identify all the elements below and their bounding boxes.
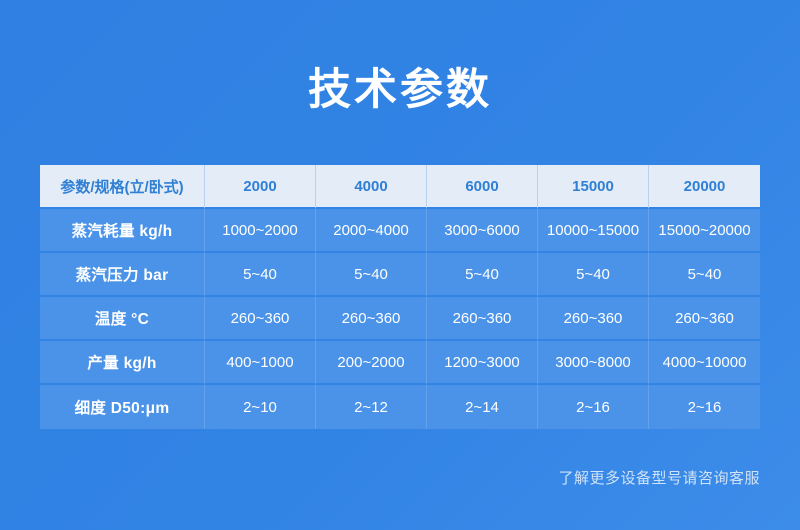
table-cell: 5~40 xyxy=(649,253,760,297)
table-cell: 260~360 xyxy=(427,297,538,341)
column-header-4000: 4000 xyxy=(316,165,427,209)
column-header-spec: 参数/规格(立/卧式) xyxy=(40,165,205,209)
table-header-row: 参数/规格(立/卧式) 2000 4000 6000 15000 20000 xyxy=(40,165,760,209)
row-label-steam-consumption: 蒸汽耗量 kg/h xyxy=(40,209,205,253)
table-cell: 1000~2000 xyxy=(205,209,316,253)
row-label-steam-pressure: 蒸汽压力 bar xyxy=(40,253,205,297)
column-header-2000: 2000 xyxy=(205,165,316,209)
table-row: 蒸汽压力 bar 5~40 5~40 5~40 5~40 5~40 xyxy=(40,253,760,297)
row-label-fineness: 细度 D50:μm xyxy=(40,385,205,429)
technical-parameters-table: 参数/规格(立/卧式) 2000 4000 6000 15000 20000 蒸… xyxy=(40,165,760,429)
table-cell: 2000~4000 xyxy=(316,209,427,253)
table-cell: 10000~15000 xyxy=(538,209,649,253)
table-header: 参数/规格(立/卧式) 2000 4000 6000 15000 20000 xyxy=(40,165,760,209)
column-header-20000: 20000 xyxy=(649,165,760,209)
table-cell: 5~40 xyxy=(538,253,649,297)
row-label-temperature: 温度 °C xyxy=(40,297,205,341)
table-cell: 2~12 xyxy=(316,385,427,429)
table-body: 蒸汽耗量 kg/h 1000~2000 2000~4000 3000~6000 … xyxy=(40,209,760,429)
table-cell: 260~360 xyxy=(649,297,760,341)
table-cell: 5~40 xyxy=(316,253,427,297)
table-row: 细度 D50:μm 2~10 2~12 2~14 2~16 2~16 xyxy=(40,385,760,429)
title-section: 技术参数 xyxy=(0,0,800,115)
table-row: 产量 kg/h 400~1000 200~2000 1200~3000 3000… xyxy=(40,341,760,385)
table-cell: 3000~6000 xyxy=(427,209,538,253)
footer-note: 了解更多设备型号请咨询客服 xyxy=(558,467,760,488)
table-cell: 2~16 xyxy=(649,385,760,429)
table-cell: 3000~8000 xyxy=(538,341,649,385)
table-cell: 200~2000 xyxy=(316,341,427,385)
table-cell: 2~14 xyxy=(427,385,538,429)
table-cell: 4000~10000 xyxy=(649,341,760,385)
table-cell: 5~40 xyxy=(427,253,538,297)
row-label-output: 产量 kg/h xyxy=(40,341,205,385)
table-row: 蒸汽耗量 kg/h 1000~2000 2000~4000 3000~6000 … xyxy=(40,209,760,253)
table-cell: 2~16 xyxy=(538,385,649,429)
table-cell: 2~10 xyxy=(205,385,316,429)
column-header-15000: 15000 xyxy=(538,165,649,209)
table-cell: 15000~20000 xyxy=(649,209,760,253)
table-row: 温度 °C 260~360 260~360 260~360 260~360 26… xyxy=(40,297,760,341)
table-cell: 1200~3000 xyxy=(427,341,538,385)
table-cell: 5~40 xyxy=(205,253,316,297)
table-cell: 400~1000 xyxy=(205,341,316,385)
column-header-6000: 6000 xyxy=(427,165,538,209)
table-cell: 260~360 xyxy=(538,297,649,341)
table-cell: 260~360 xyxy=(205,297,316,341)
table-cell: 260~360 xyxy=(316,297,427,341)
page-title: 技术参数 xyxy=(0,66,800,115)
